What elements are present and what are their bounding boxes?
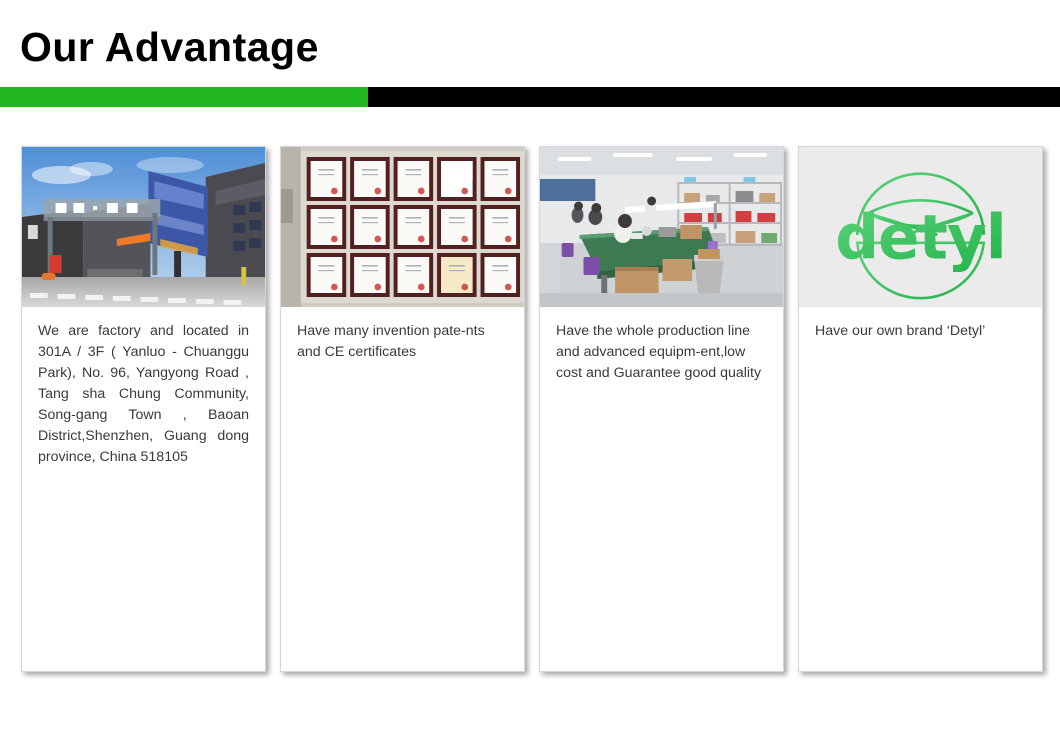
rule-bar-black-segment [368,87,1060,107]
rule-bar-green-segment [0,87,368,107]
advantage-card-own-brand[interactable]: detyl Have our own brand ‘Detyl’ [798,146,1043,672]
advantage-card-text: Have many invention pate-nts and CE cert… [281,307,524,671]
production-workshop-photo [540,147,783,307]
advantage-card-factory-location[interactable]: We are factory and located in 301A / 3F … [21,146,266,672]
header-rule-bar [0,87,1060,107]
advantage-card-patents-certificates[interactable]: Have many invention pate-nts and CE cert… [280,146,525,672]
advantage-card-production-line[interactable]: Have the whole production line and advan… [539,146,784,672]
factory-entrance-photo [22,147,265,307]
advantage-card-text: Have our own brand ‘Detyl’ [799,307,1042,671]
detyl-brand-logo: detyl [799,147,1042,307]
page-title: Our Advantage [20,22,319,72]
advantage-card-text: We are factory and located in 301A / 3F … [22,307,265,671]
advantage-card-text: Have the whole production line and advan… [540,307,783,671]
certificates-wall-photo [281,147,524,307]
advantage-cards-row: We are factory and located in 301A / 3F … [21,146,1043,674]
svg-text:detyl: detyl [835,203,1006,274]
